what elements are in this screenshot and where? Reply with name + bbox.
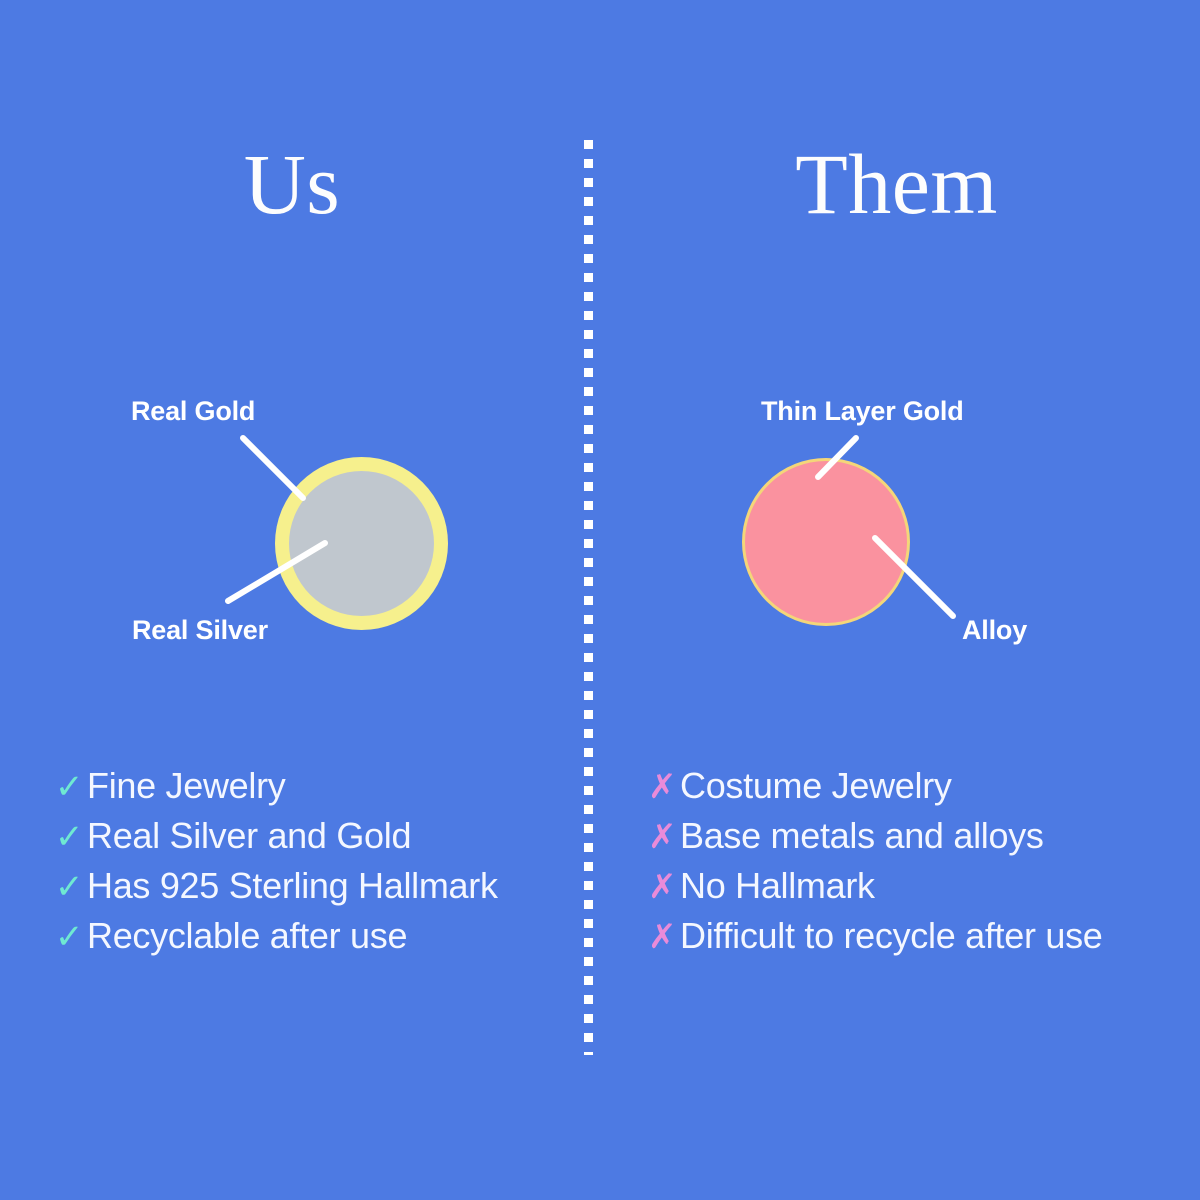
- check-icon: ✓: [55, 820, 87, 854]
- left-diagram: Real Gold Real Silver: [0, 380, 584, 670]
- comparison-infographic: Us Real Gold Real Silver ✓ Fine Jewelry …: [0, 0, 1200, 1200]
- left-feature-list: ✓ Fine Jewelry ✓ Real Silver and Gold ✓ …: [55, 768, 498, 968]
- list-item: ✓ Has 925 Sterling Hallmark: [55, 868, 498, 918]
- feature-label: Base metals and alloys: [680, 818, 1044, 854]
- list-item: ✓ Real Silver and Gold: [55, 818, 498, 868]
- feature-label: Fine Jewelry: [87, 768, 285, 804]
- feature-label: No Hallmark: [680, 868, 875, 904]
- annotation-alloy: Alloy: [962, 615, 1027, 646]
- list-item: ✗ Costume Jewelry: [648, 768, 1103, 818]
- list-item: ✗ No Hallmark: [648, 868, 1103, 918]
- right-feature-list: ✗ Costume Jewelry ✗ Base metals and allo…: [648, 768, 1103, 968]
- check-icon: ✓: [55, 920, 87, 954]
- leader-line-real-gold: [243, 438, 303, 498]
- left-leader-lines: [0, 380, 584, 670]
- check-icon: ✓: [55, 770, 87, 804]
- annotation-thin-layer-gold: Thin Layer Gold: [761, 396, 964, 427]
- cross-icon: ✗: [648, 920, 680, 954]
- list-item: ✗ Base metals and alloys: [648, 818, 1103, 868]
- right-diagram: Thin Layer Gold Alloy: [593, 380, 1200, 670]
- list-item: ✓ Recyclable after use: [55, 918, 498, 968]
- feature-label: Has 925 Sterling Hallmark: [87, 868, 498, 904]
- annotation-real-gold: Real Gold: [131, 396, 255, 427]
- cross-icon: ✗: [648, 820, 680, 854]
- list-item: ✓ Fine Jewelry: [55, 768, 498, 818]
- leader-line-alloy: [875, 538, 953, 616]
- cross-icon: ✗: [648, 870, 680, 904]
- list-item: ✗ Difficult to recycle after use: [648, 918, 1103, 968]
- feature-label: Costume Jewelry: [680, 768, 952, 804]
- cross-icon: ✗: [648, 770, 680, 804]
- feature-label: Recyclable after use: [87, 918, 407, 954]
- leader-line-real-silver: [228, 543, 325, 601]
- check-icon: ✓: [55, 870, 87, 904]
- feature-label: Difficult to recycle after use: [680, 918, 1103, 954]
- annotation-real-silver: Real Silver: [132, 615, 268, 646]
- feature-label: Real Silver and Gold: [87, 818, 411, 854]
- right-column-title: Them: [593, 138, 1200, 231]
- leader-line-thin-layer-gold: [818, 438, 856, 477]
- left-column-title: Us: [0, 138, 584, 231]
- column-divider: [584, 140, 593, 1055]
